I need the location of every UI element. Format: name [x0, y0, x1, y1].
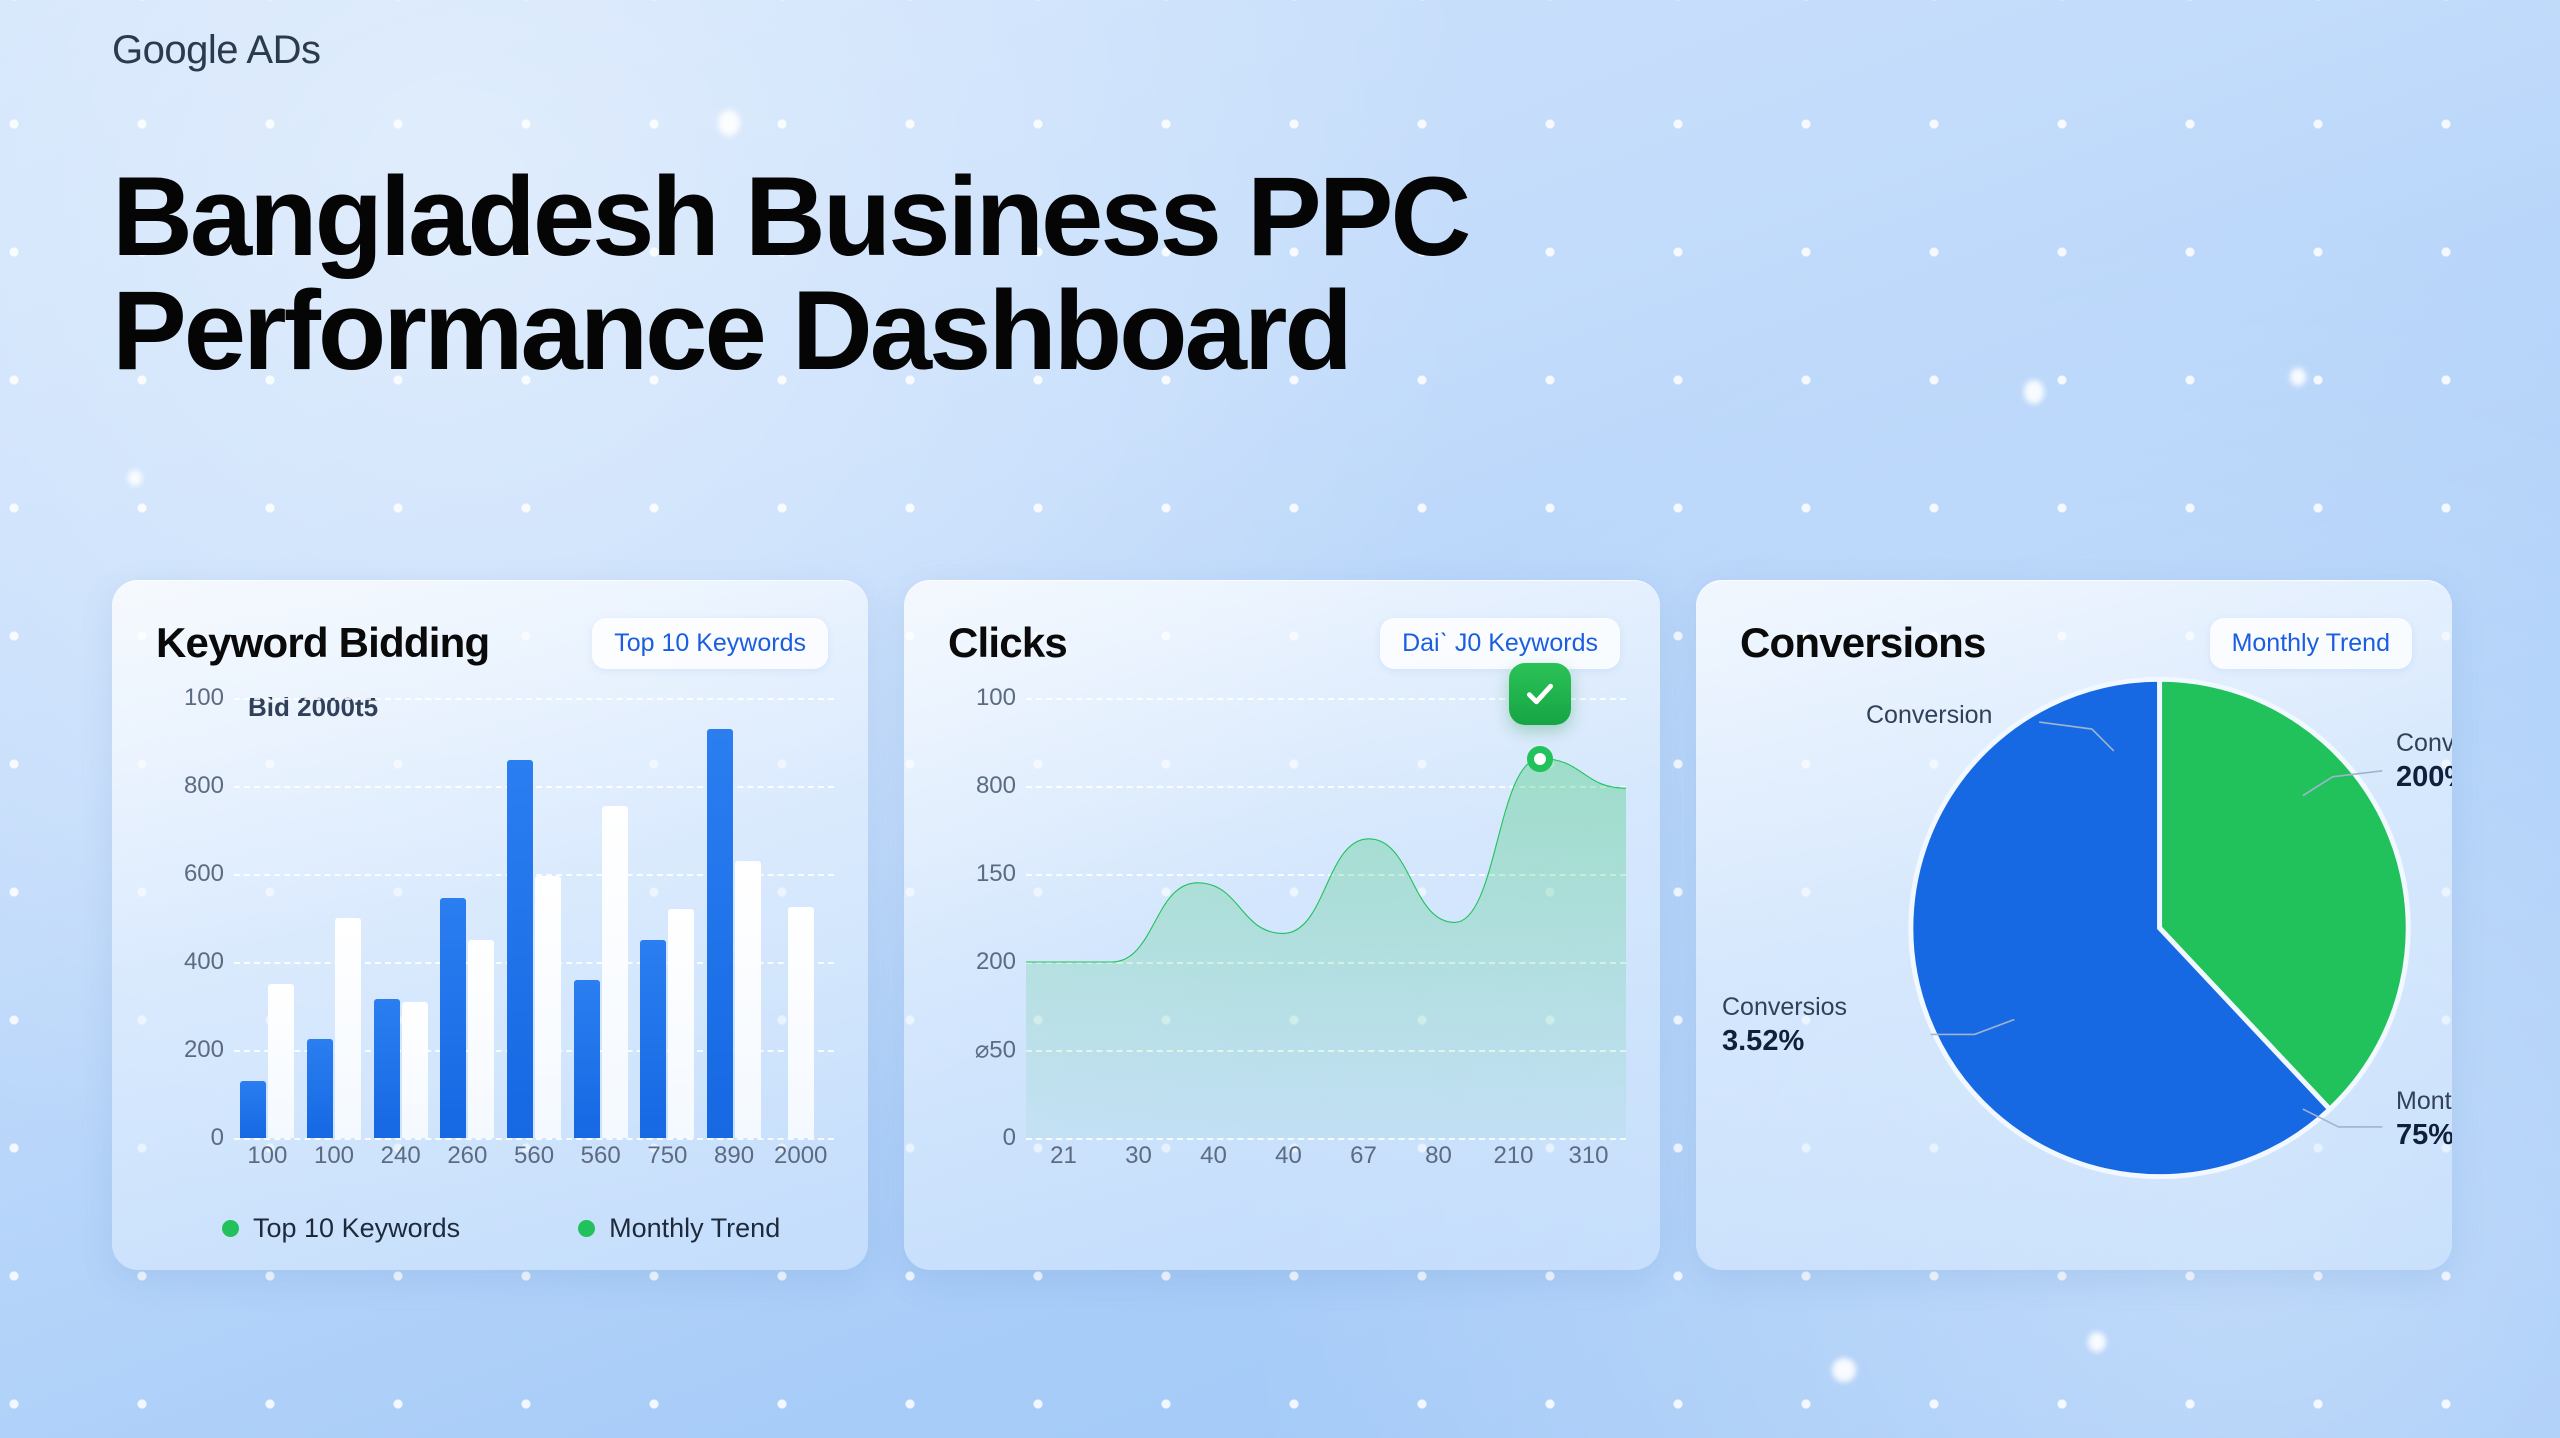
bar-top-10-keywords[interactable]: [240, 1081, 266, 1138]
x-axis-tick-label: 310: [1551, 1142, 1626, 1170]
bokeh-dot: [2088, 1332, 2106, 1352]
x-axis-tick-label: 67: [1326, 1142, 1401, 1170]
y-axis-tick-label: 100: [976, 684, 1016, 712]
y-axis-tick-label: 100: [184, 684, 224, 712]
bar-group: [301, 698, 368, 1138]
x-axis-tick-label: 210: [1476, 1142, 1551, 1170]
legend-label: Top 10 Keywords: [253, 1213, 460, 1244]
x-axis-tick-label: 2000: [767, 1142, 834, 1170]
check-badge-icon[interactable]: [1509, 663, 1571, 725]
pie-callout-conversios-left: Conversios 3.52%: [1722, 992, 1847, 1060]
brand-logo-text: Google ADs: [112, 28, 320, 73]
pie-callout-monthly-bottom: Monthly 75%: [2396, 1086, 2452, 1154]
bokeh-dot: [718, 110, 740, 136]
card-keyword-bidding: Keyword Bidding Top 10 Keywords Bid 2000…: [112, 580, 868, 1270]
check-icon: [1523, 677, 1557, 711]
bokeh-dot: [128, 470, 142, 486]
x-axis-tick-label: 560: [501, 1142, 568, 1170]
x-axis-tick-label: 240: [367, 1142, 434, 1170]
pie-callout-value: 200%: [2396, 759, 2452, 795]
pie-callout-label: Conversios: [2396, 729, 2452, 757]
bar-chart-bars: [234, 698, 834, 1138]
legend-item-monthly-trend: Monthly Trend: [578, 1213, 780, 1244]
card-clicks: Clicks Daiˋ J0 Keywords 100800150200⌀500: [904, 580, 1660, 1270]
bar-group: [501, 698, 568, 1138]
bar-top-10-keywords[interactable]: [707, 729, 733, 1138]
bar-monthly-trend[interactable]: [602, 806, 628, 1138]
bar-group: [367, 698, 434, 1138]
x-axis-tick-label: 260: [434, 1142, 501, 1170]
line-chart: 100800150200⌀500: [948, 698, 1626, 1172]
bar-monthly-trend[interactable]: [268, 984, 294, 1138]
bokeh-dot: [2024, 380, 2044, 404]
card-title: Keyword Bidding: [156, 619, 489, 667]
x-axis-tick-label: 21: [1026, 1142, 1101, 1170]
x-axis-tick-label: 40: [1251, 1142, 1326, 1170]
dashboard-cards: Keyword Bidding Top 10 Keywords Bid 2000…: [112, 580, 2452, 1270]
y-axis-tick-label: 400: [184, 948, 224, 976]
y-axis-tick-label: 0: [211, 1124, 224, 1152]
x-axis-tick-label: 100: [234, 1142, 301, 1170]
card-header: Keyword Bidding Top 10 Keywords: [156, 612, 828, 674]
y-axis-tick-label: 600: [184, 860, 224, 888]
x-axis-tick-label: 80: [1401, 1142, 1476, 1170]
bar-top-10-keywords[interactable]: [640, 940, 666, 1138]
y-axis-tick-label: 150: [976, 860, 1016, 888]
line-chart-x-axis: 213040406780210310: [1026, 1140, 1626, 1172]
page-title-line-2: Performance Dashboard: [112, 274, 1832, 388]
y-axis-tick-label: 200: [184, 1036, 224, 1064]
legend-dot-icon: [222, 1220, 239, 1237]
bar-chart-y-axis: 1008006004002000: [156, 698, 230, 1138]
bar-top-10-keywords[interactable]: [440, 898, 466, 1138]
legend-dot-icon: [578, 1220, 595, 1237]
x-axis-tick-label: 100: [301, 1142, 368, 1170]
bokeh-dot: [1832, 1358, 1856, 1382]
bar-monthly-trend[interactable]: [668, 909, 694, 1138]
bar-monthly-trend[interactable]: [735, 861, 761, 1138]
x-axis-tick-label: 40: [1176, 1142, 1251, 1170]
bar-monthly-trend[interactable]: [788, 907, 814, 1138]
bar-monthly-trend[interactable]: [535, 876, 561, 1138]
bokeh-dot: [2290, 368, 2306, 386]
pie-chart-svg: [1696, 580, 2452, 1270]
bar-group: [634, 698, 701, 1138]
pie-callout-label: Monthly: [2396, 1087, 2452, 1115]
pie-callout-value: 3.52%: [1722, 1023, 1847, 1059]
line-chart-series: [1026, 698, 1626, 1138]
pie-callout-conversion-top: Conversion: [1866, 700, 1992, 731]
legend-item-top-10-keywords: Top 10 Keywords: [222, 1213, 460, 1244]
pie-callout-label: Conversion: [1866, 701, 1992, 729]
bar-chart-x-axis: 1001002402605605607508902000: [234, 1140, 834, 1172]
y-axis-tick-label: 800: [184, 772, 224, 800]
bar-top-10-keywords[interactable]: [507, 760, 533, 1138]
bar-monthly-trend[interactable]: [402, 1002, 428, 1138]
card-conversions: Conversions Monthly Trend Conversion Con…: [1696, 580, 2452, 1270]
page-title: Bangladesh Business PPC Performance Dash…: [112, 160, 1832, 388]
x-axis-tick-label: 890: [701, 1142, 768, 1170]
legend-label: Monthly Trend: [609, 1213, 780, 1244]
pie-callout-conversios-right: Conversios 200%: [2396, 728, 2452, 796]
bar-top-10-keywords[interactable]: [374, 999, 400, 1138]
pie-slices[interactable]: [1911, 679, 2408, 1176]
bar-chart: Bid 2000t5 1008006004002000 100100240260…: [156, 698, 834, 1172]
y-axis-tick-label: 800: [976, 772, 1016, 800]
bar-group: [701, 698, 768, 1138]
pie-callout-label: Conversios: [1722, 993, 1847, 1021]
card-title: Clicks: [948, 619, 1067, 667]
x-axis-tick-label: 30: [1101, 1142, 1176, 1170]
x-axis-tick-label: 750: [634, 1142, 701, 1170]
y-axis-tick-label: 200: [976, 948, 1016, 976]
card-badge-daily-keywords[interactable]: Daiˋ J0 Keywords: [1380, 618, 1620, 669]
page-title-line-1: Bangladesh Business PPC: [112, 160, 1832, 274]
card-badge-top-10-keywords[interactable]: Top 10 Keywords: [592, 618, 828, 669]
bar-top-10-keywords[interactable]: [307, 1039, 333, 1138]
line-data-point-marker[interactable]: [1527, 746, 1553, 772]
bar-monthly-trend[interactable]: [335, 918, 361, 1138]
bar-group: [567, 698, 634, 1138]
line-chart-y-axis: 100800150200⌀500: [948, 698, 1022, 1138]
bar-chart-legend: Top 10 Keywords Monthly Trend: [222, 1213, 780, 1244]
area-fill: [1026, 759, 1626, 1139]
bar-top-10-keywords[interactable]: [574, 980, 600, 1138]
bar-group: [767, 698, 834, 1138]
pie-callout-value: 75%: [2396, 1117, 2452, 1153]
bar-group: [434, 698, 501, 1138]
bar-monthly-trend[interactable]: [468, 940, 494, 1138]
pie-chart: Conversion Conversios 200% Conversios 3.…: [1696, 580, 2452, 1270]
bar-group: [234, 698, 301, 1138]
y-axis-tick-label: 0: [1003, 1124, 1016, 1152]
x-axis-tick-label: 560: [567, 1142, 634, 1170]
y-axis-tick-label: ⌀50: [975, 1036, 1016, 1065]
